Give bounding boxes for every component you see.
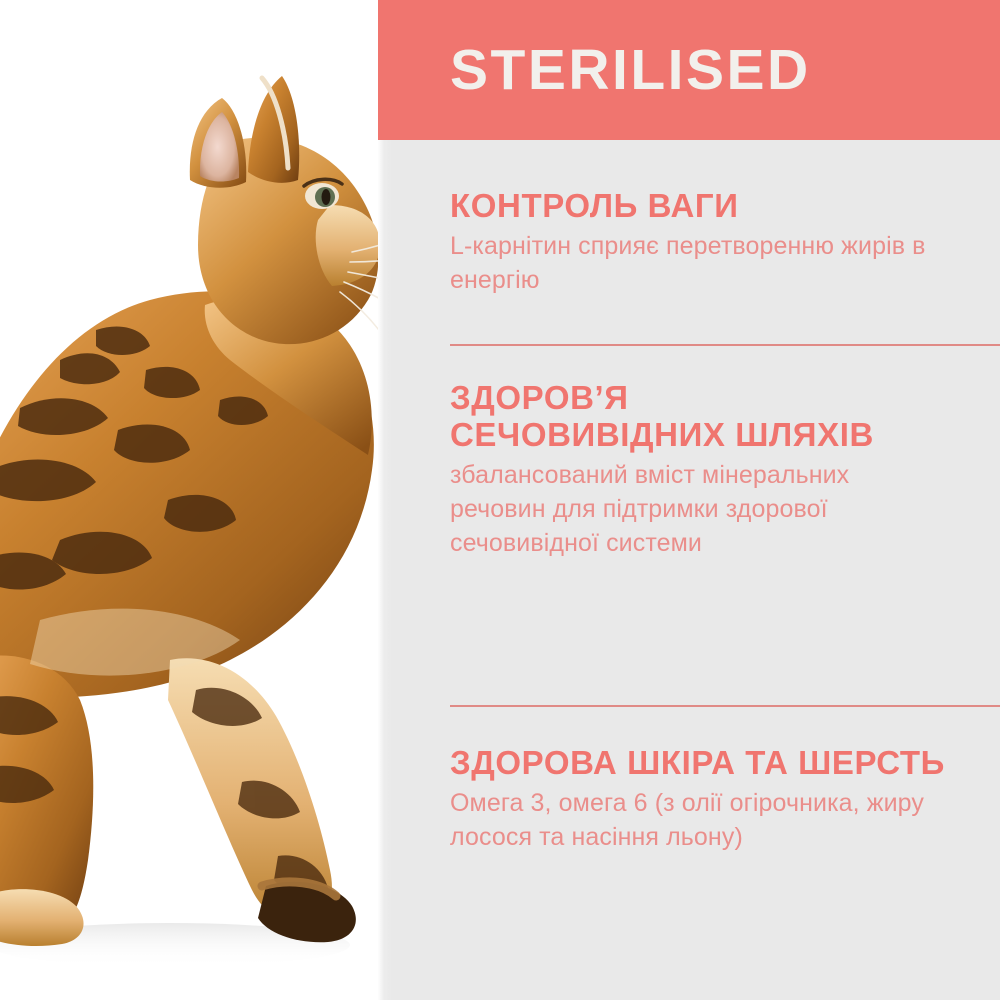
feature-list: КОНТРОЛЬ ВАГИ L-карнітин сприяє перетвор… <box>450 140 1000 1000</box>
feature-divider <box>450 705 1000 707</box>
banner-title: STERILISED <box>378 42 811 99</box>
promo-canvas: STERILISED КОНТРОЛЬ ВАГИ L-карнітин спри… <box>0 0 1000 1000</box>
feature-title: ЗДОРОВ’Я СЕЧОВИВІДНИХ ШЛЯХІВ <box>450 380 880 454</box>
feature-title: ЗДОРОВА ШКІРА ТА ШЕРСТЬ <box>450 745 970 782</box>
header-banner: STERILISED <box>378 0 1000 140</box>
feature-urinary-health: ЗДОРОВ’Я СЕЧОВИВІДНИХ ШЛЯХІВ збалансован… <box>450 380 880 560</box>
feature-body: збалансований вміст мінеральних речовин … <box>450 458 880 560</box>
feature-weight-control: КОНТРОЛЬ ВАГИ L-карнітин сприяє перетвор… <box>450 188 950 297</box>
photo-stage <box>0 0 380 1000</box>
feature-skin-coat: ЗДОРОВА ШКІРА ТА ШЕРСТЬ Омега 3, омега 6… <box>450 745 970 854</box>
feature-divider <box>450 344 1000 346</box>
feature-body: L-карнітин сприяє перетворенню жирів в е… <box>450 229 950 297</box>
feature-body: Омега 3, омега 6 (з олії огірочника, жир… <box>450 786 970 854</box>
cat-photo <box>0 0 380 1000</box>
feature-title: КОНТРОЛЬ ВАГИ <box>450 188 950 225</box>
